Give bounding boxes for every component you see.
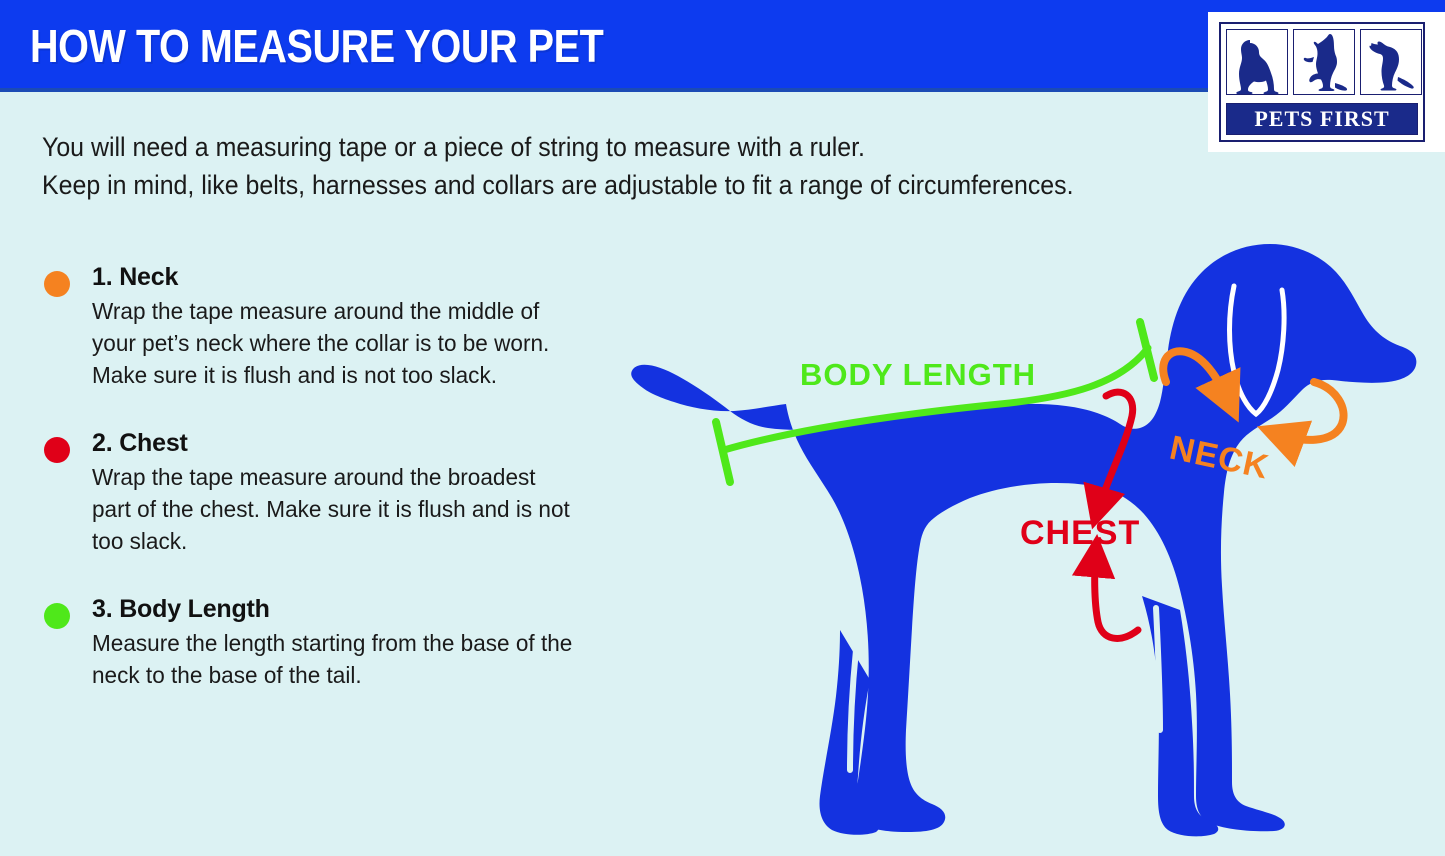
- step-title-chest: 2. Chest: [92, 428, 642, 458]
- step-body-line: Measure the length starting from the bas…: [92, 628, 620, 660]
- step-item-chest: 2. Chest Wrap the tape measure around th…: [42, 428, 642, 558]
- step-body-neck: Wrap the tape measure around the middle …: [92, 296, 620, 392]
- step-body-line: Wrap the tape measure around the middle …: [92, 296, 620, 328]
- step-body-line: part of the chest. Make sure it is flush…: [92, 494, 620, 526]
- chest-label: CHEST: [1020, 514, 1140, 552]
- logo-frame: PETS FIRST: [1219, 22, 1425, 142]
- logo-silhouette-row: [1226, 29, 1422, 95]
- page-title: HOW TO MEASURE YOUR PET: [30, 19, 603, 73]
- brand-logo: PETS FIRST: [1208, 12, 1445, 152]
- howling-dog-center-icon: [1293, 29, 1355, 95]
- intro-line-2: Keep in mind, like belts, harnesses and …: [42, 166, 1114, 204]
- dog-measurement-diagram: BODY LENGTH NECK CHEST: [620, 210, 1440, 855]
- bullet-neck: [44, 271, 70, 297]
- logo-wordmark: PETS FIRST: [1226, 103, 1418, 135]
- infographic-page: HOW TO MEASURE YOUR PET: [0, 0, 1445, 856]
- bullet-body-length: [44, 603, 70, 629]
- step-title-neck: 1. Neck: [92, 262, 642, 292]
- step-item-body-length: 3. Body Length Measure the length starti…: [42, 594, 642, 692]
- sitting-shepherd-right-icon: [1360, 29, 1422, 95]
- step-body-line: neck to the base of the tail.: [92, 660, 620, 692]
- step-body-line: too slack.: [92, 526, 620, 558]
- bullet-chest: [44, 437, 70, 463]
- sitting-dog-left-icon: [1226, 29, 1288, 95]
- step-body-chest: Wrap the tape measure around the broades…: [92, 462, 620, 558]
- step-title-body-length: 3. Body Length: [92, 594, 642, 624]
- step-body-line: Make sure it is flush and is not too sla…: [92, 360, 620, 392]
- measurement-steps-list: 1. Neck Wrap the tape measure around the…: [42, 262, 642, 728]
- intro-text: You will need a measuring tape or a piec…: [42, 128, 1114, 205]
- step-body-line: your pet’s neck where the collar is to b…: [92, 328, 620, 360]
- front-leg-crease: [1156, 608, 1160, 730]
- step-body-body-length: Measure the length starting from the bas…: [92, 628, 620, 692]
- step-item-neck: 1. Neck Wrap the tape measure around the…: [42, 262, 642, 392]
- body-length-label: BODY LENGTH: [800, 357, 1036, 392]
- step-body-line: Wrap the tape measure around the broades…: [92, 462, 620, 494]
- intro-line-1: You will need a measuring tape or a piec…: [42, 128, 1114, 166]
